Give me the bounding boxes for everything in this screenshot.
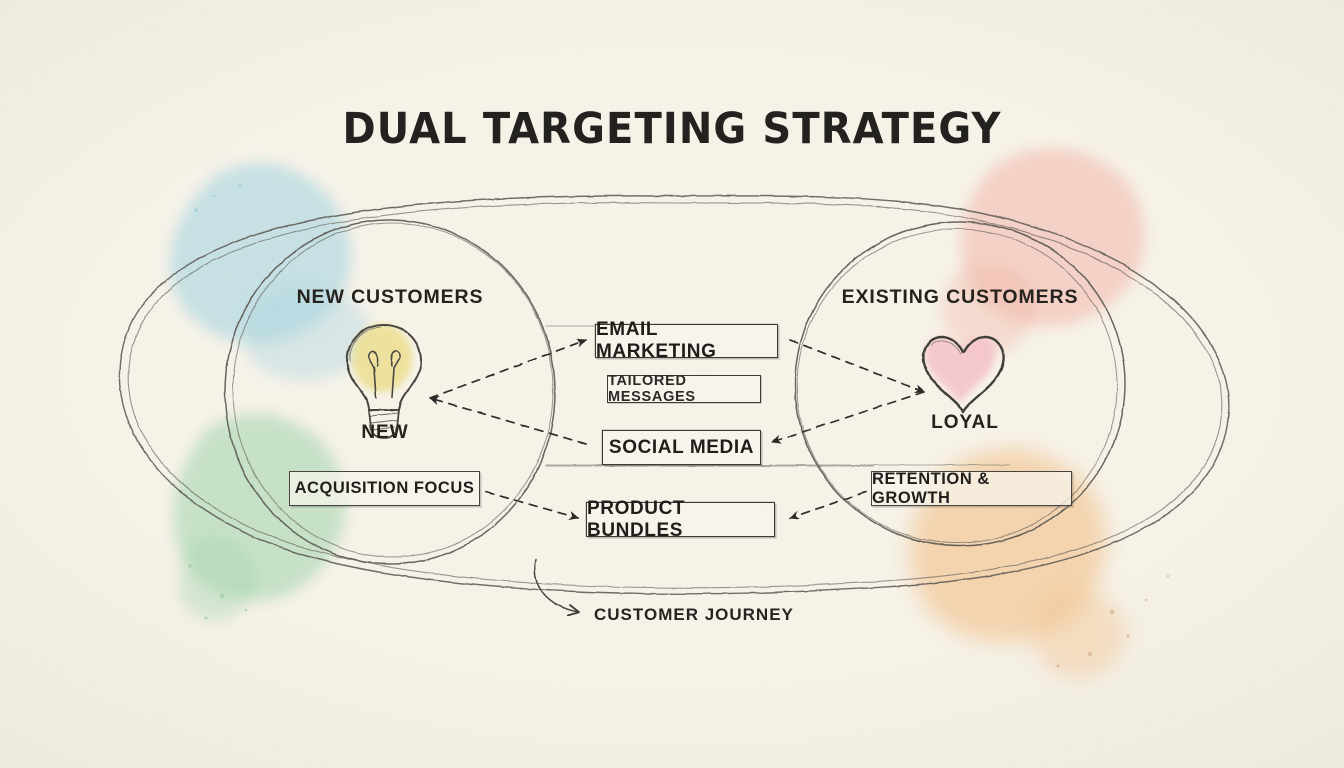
heart-icon <box>923 337 1003 412</box>
lightbulb-icon <box>347 324 421 438</box>
channel-box-social-media[interactable]: SOCIAL MEDIA <box>602 430 761 465</box>
diagram-canvas: DUAL TARGETING STRATEGY NEW CUSTOMERS NE… <box>0 0 1344 768</box>
page-title: DUAL TARGETING STRATEGY <box>47 104 1297 154</box>
segment-left-heading: NEW CUSTOMERS <box>250 286 530 309</box>
tag-acquisition-focus[interactable]: ACQUISITION FOCUS <box>289 471 480 506</box>
customer-journey-label: CUSTOMER JOURNEY <box>594 605 794 625</box>
channel-box-product-bundles[interactable]: PRODUCT BUNDLES <box>586 502 775 537</box>
segment-right-heading: EXISTING CUSTOMERS <box>820 286 1100 309</box>
tag-retention-growth[interactable]: RETENTION & GROWTH <box>871 471 1072 506</box>
note-box-tailored-messages[interactable]: TAILORED MESSAGES <box>607 375 761 403</box>
channel-box-email-marketing[interactable]: EMAIL MARKETING <box>595 324 778 358</box>
segment-left-sublabel: NEW <box>300 422 470 444</box>
segment-right-sublabel: LOYAL <box>880 412 1050 434</box>
